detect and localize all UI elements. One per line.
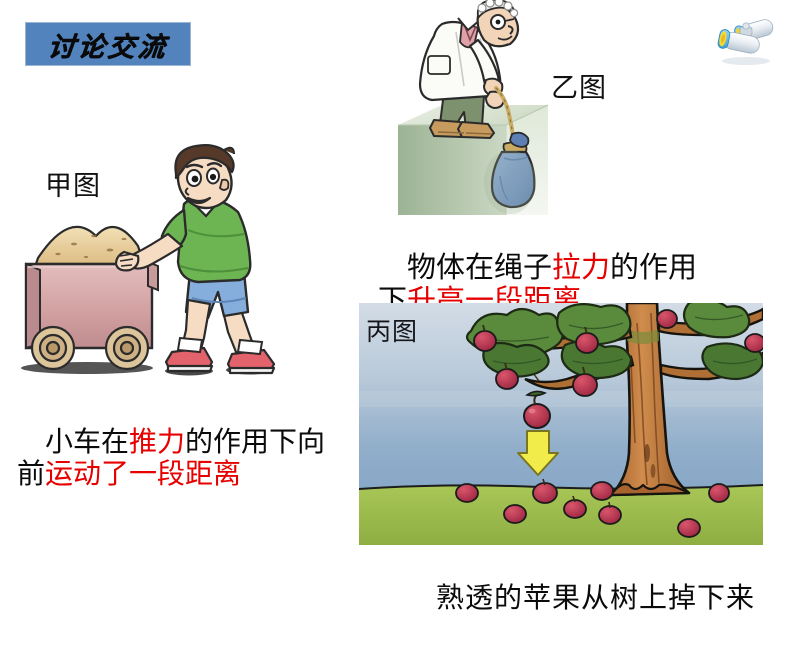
caption-jia-part-0: 小车在 <box>45 427 129 458</box>
illustration-apple-falling-from-tree <box>359 303 763 545</box>
caption-yi-part-1: 拉力 <box>552 252 610 284</box>
figure-label-bing: 丙图 <box>366 312 418 348</box>
caption-bing-part-0: 熟透的苹果从树上掉下来 <box>436 583 755 614</box>
caption-jia: 小车在推力的作用下向 前运动了一段距离 <box>17 396 347 521</box>
slide-canvas: 讨论交流 <box>0 0 800 600</box>
illustration-scientist-pulling-rope <box>398 0 608 215</box>
title-banner: 讨论交流 <box>25 22 191 66</box>
illustration-boy-pushing-cart <box>12 140 292 390</box>
caption-bing: 熟透的苹果从树上掉下来 <box>404 552 784 646</box>
caption-jia-part-1: 推力 <box>129 427 185 458</box>
caption-jia-part-3: 运动了一段距离 <box>45 459 241 490</box>
caption-yi-part-0: 物体在绳子 <box>407 252 552 284</box>
title-banner-text: 讨论交流 <box>46 25 170 64</box>
binoculars-icon <box>710 14 782 66</box>
